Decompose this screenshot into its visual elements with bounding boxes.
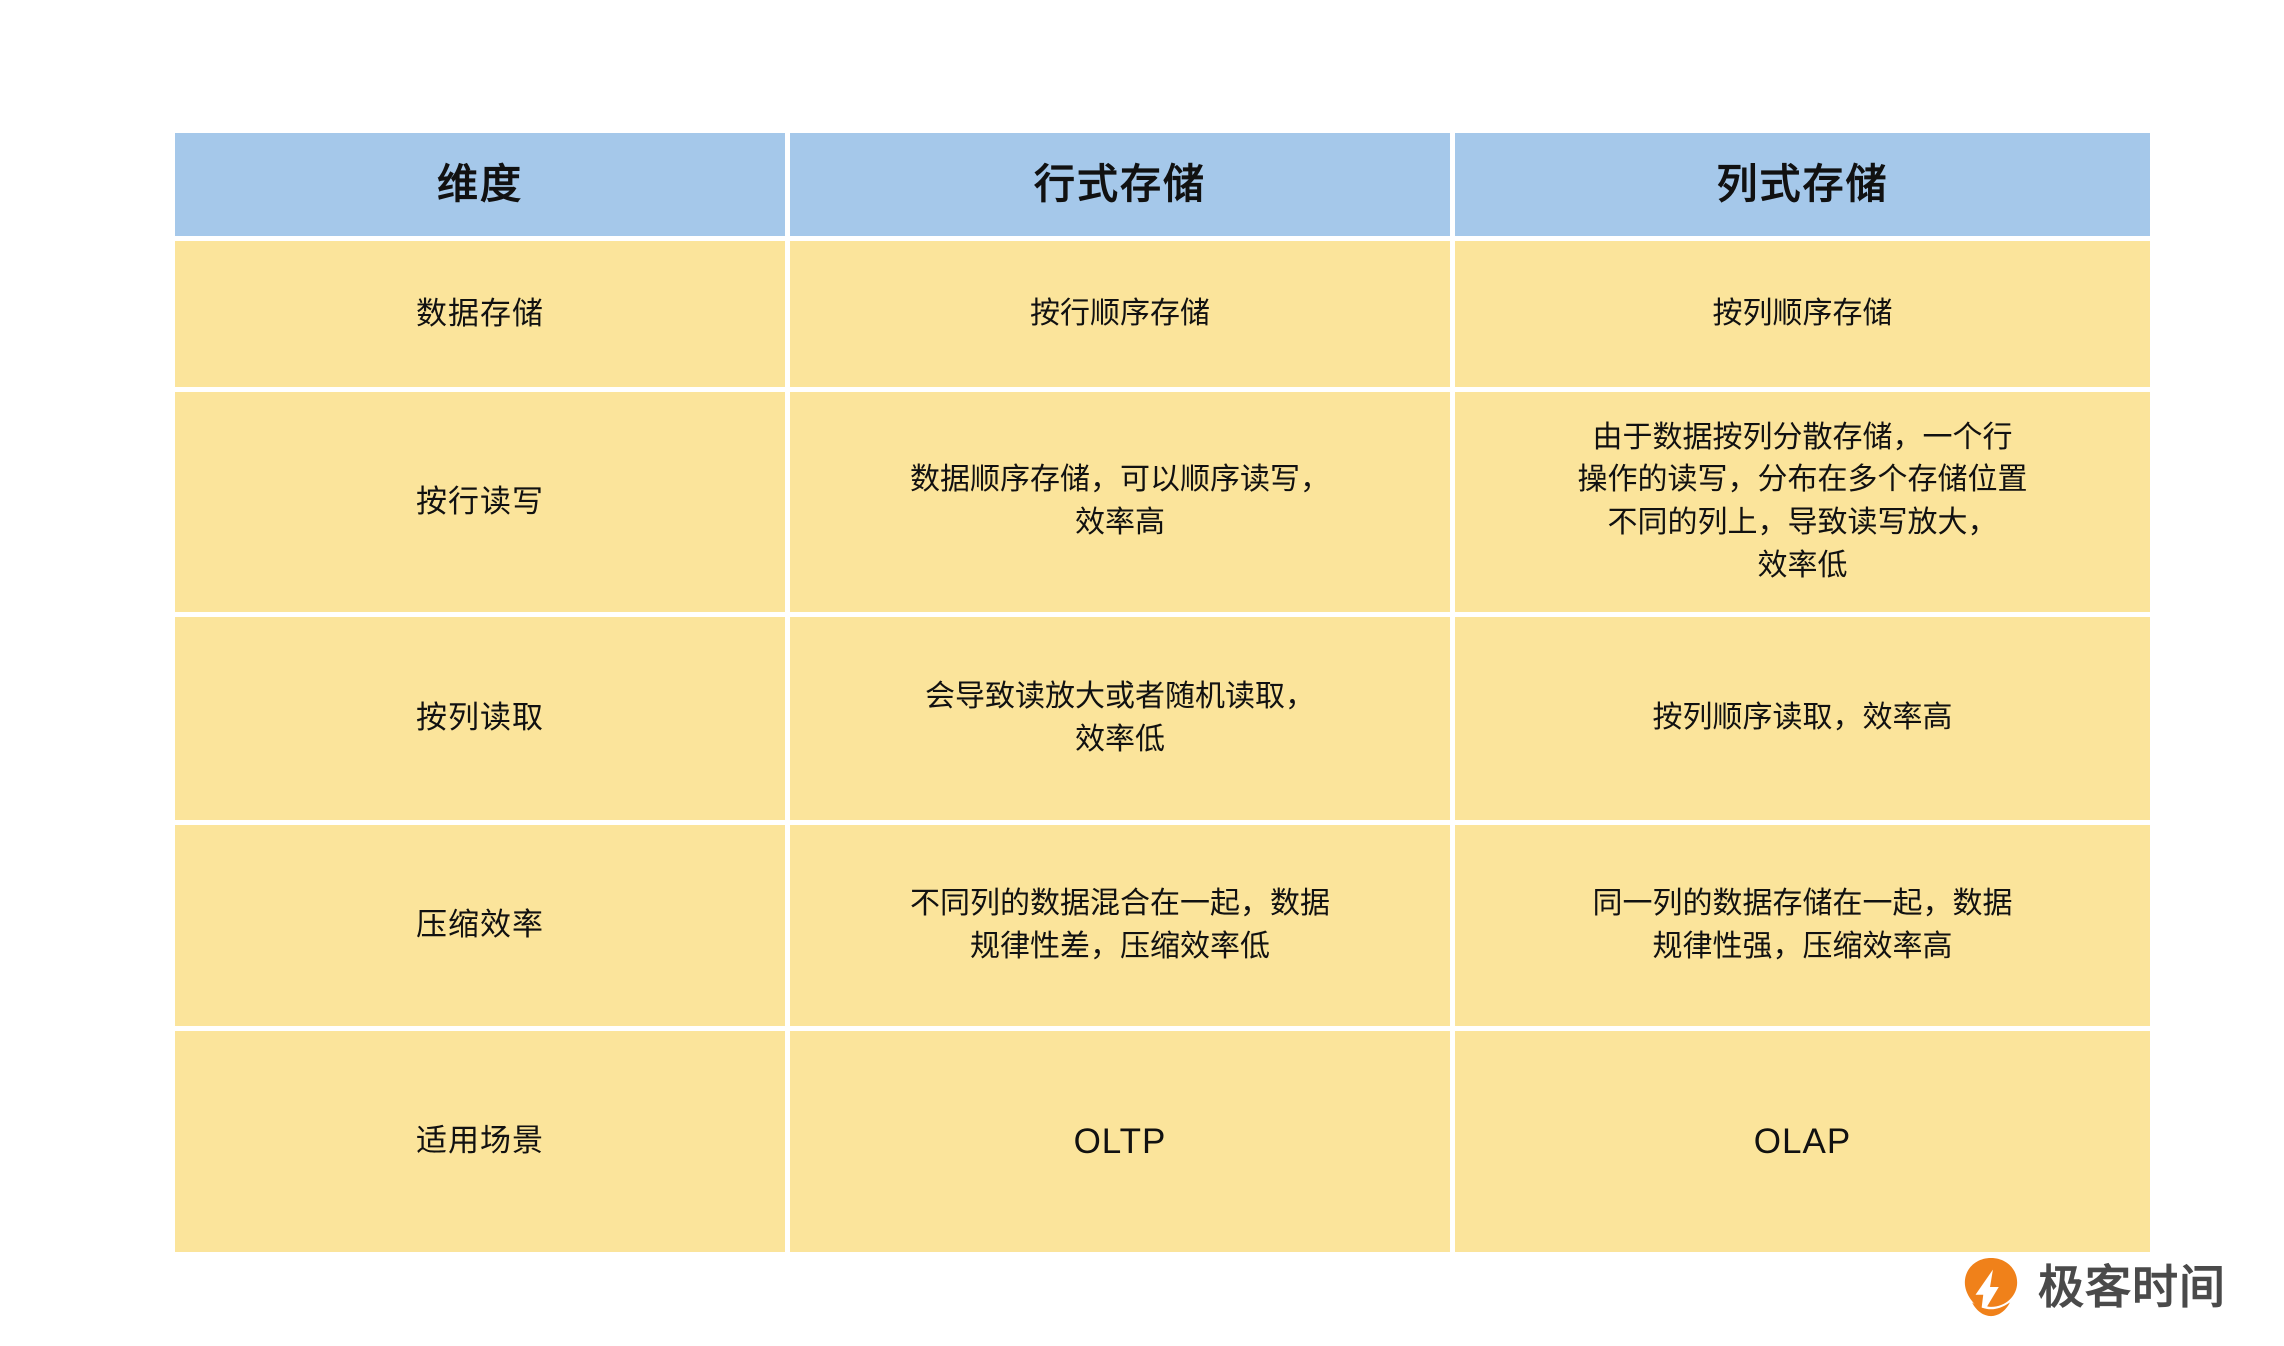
cell-column-store: OLAP bbox=[1455, 1031, 2150, 1252]
cell-row-store: OLTP bbox=[790, 1031, 1455, 1252]
column-header-column-store: 列式存储 bbox=[1455, 133, 2150, 241]
cell-dimension: 适用场景 bbox=[175, 1031, 790, 1252]
table-header: 维度 行式存储 列式存储 bbox=[175, 133, 2150, 241]
brand-name: 极客时间 bbox=[2038, 1264, 2226, 1310]
table-row: 压缩效率 不同列的数据混合在一起，数据 规律性差，压缩效率低 同一列的数据存储在… bbox=[175, 825, 2150, 1031]
cell-dimension: 按行读写 bbox=[175, 392, 790, 617]
cell-dimension: 压缩效率 bbox=[175, 825, 790, 1031]
table-row: 按行读写 数据顺序存储，可以顺序读写， 效率高 由于数据按列分散存储，一个行 操… bbox=[175, 392, 2150, 617]
cell-row-store: 会导致读放大或者随机读取， 效率低 bbox=[790, 617, 1455, 825]
geekbang-pin-icon bbox=[1960, 1256, 2022, 1318]
cell-column-store: 同一列的数据存储在一起，数据 规律性强，压缩效率高 bbox=[1455, 825, 2150, 1031]
storage-comparison-table: 维度 行式存储 列式存储 数据存储 按行顺序存储 按列顺序存储 按行读写 数据顺… bbox=[175, 133, 2150, 1252]
column-header-dimension: 维度 bbox=[175, 133, 790, 241]
cell-dimension: 数据存储 bbox=[175, 241, 790, 392]
table-row: 按列读取 会导致读放大或者随机读取， 效率低 按列顺序读取，效率高 bbox=[175, 617, 2150, 825]
cell-column-store: 由于数据按列分散存储，一个行 操作的读写，分布在多个存储位置 不同的列上，导致读… bbox=[1455, 392, 2150, 617]
table-row: 适用场景 OLTP OLAP bbox=[175, 1031, 2150, 1252]
cell-row-store: 不同列的数据混合在一起，数据 规律性差，压缩效率低 bbox=[790, 825, 1455, 1031]
table-row: 数据存储 按行顺序存储 按列顺序存储 bbox=[175, 241, 2150, 392]
cell-column-store: 按列顺序存储 bbox=[1455, 241, 2150, 392]
cell-dimension: 按列读取 bbox=[175, 617, 790, 825]
column-header-row-store: 行式存储 bbox=[790, 133, 1455, 241]
slide-canvas: 维度 行式存储 列式存储 数据存储 按行顺序存储 按列顺序存储 按行读写 数据顺… bbox=[0, 0, 2284, 1346]
cell-column-store: 按列顺序读取，效率高 bbox=[1455, 617, 2150, 825]
table-header-row: 维度 行式存储 列式存储 bbox=[175, 133, 2150, 241]
cell-row-store: 按行顺序存储 bbox=[790, 241, 1455, 392]
table-body: 数据存储 按行顺序存储 按列顺序存储 按行读写 数据顺序存储，可以顺序读写， 效… bbox=[175, 241, 2150, 1252]
brand-logo: 极客时间 bbox=[1960, 1256, 2226, 1318]
cell-row-store: 数据顺序存储，可以顺序读写， 效率高 bbox=[790, 392, 1455, 617]
